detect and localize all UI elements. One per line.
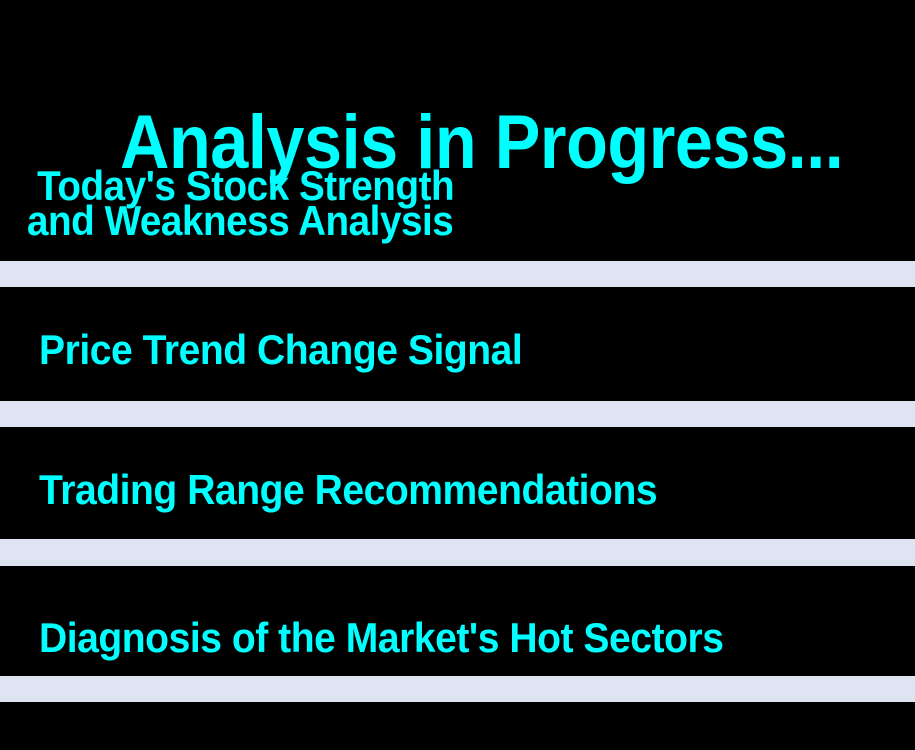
separator-bar-2: [0, 401, 915, 427]
slide-subtitle-line-2: and Weakness Analysis: [27, 203, 454, 238]
agenda-item-trading-range-recommendations: Trading Range Recommendations: [39, 468, 657, 512]
presentation-slide: Analysis in Progress... Today's Stock St…: [0, 0, 915, 750]
separator-bar-4: [0, 676, 915, 702]
slide-subtitle: Today's Stock Strength and Weakness Anal…: [27, 168, 454, 238]
separator-bar-1: [0, 261, 915, 287]
separator-bar-3: [0, 539, 915, 566]
agenda-item-market-hot-sectors: Diagnosis of the Market's Hot Sectors: [39, 616, 723, 660]
agenda-item-price-trend-change-signal: Price Trend Change Signal: [39, 328, 522, 372]
